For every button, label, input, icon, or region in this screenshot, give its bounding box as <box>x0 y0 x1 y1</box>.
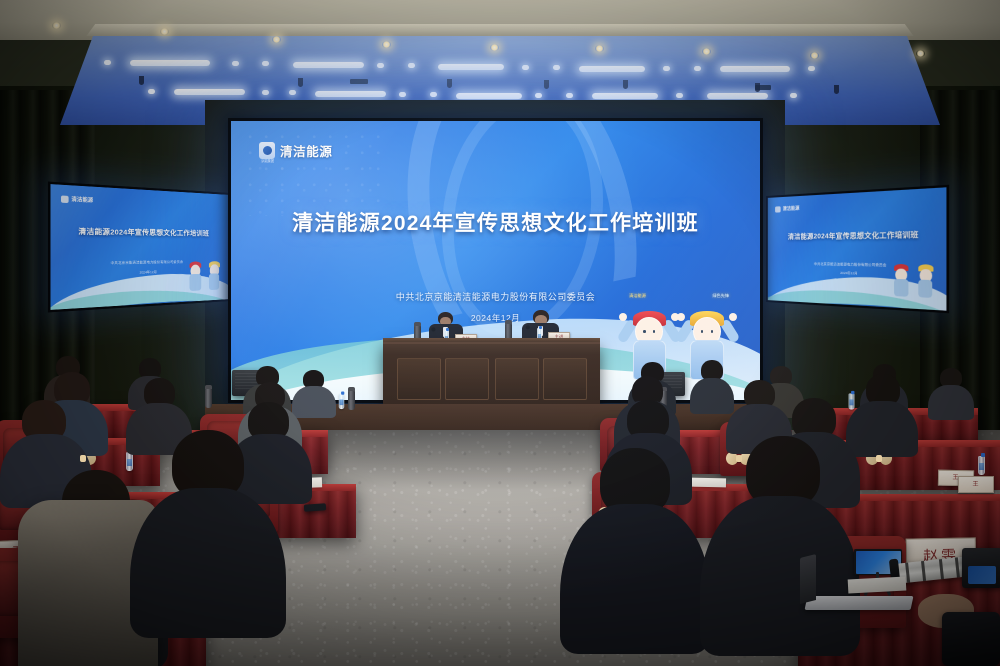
slide-logo-brand: 清洁能源 <box>280 141 332 160</box>
downlight-3 <box>272 36 281 43</box>
side-screen-left: 清洁能源 清洁能源2024年宣传思想文化工作培训班 中共北京京能清洁能源电力股份… <box>48 182 231 313</box>
thermos-a2 <box>348 390 355 410</box>
side-right-title: 清洁能源2024年宣传思想文化工作培训班 <box>768 228 947 241</box>
audience-person-center-right <box>560 448 710 648</box>
audience-person-front-right <box>700 436 860 650</box>
conference-room-scene: 清洁能源 清洁能源2024年宣传思想文化工作培训班 中共北京京能清洁能源电力股份… <box>0 0 1000 666</box>
head-table <box>383 342 600 410</box>
water-bottle-b1 <box>978 456 985 475</box>
downlight-8 <box>810 52 819 59</box>
side-screen-right: 清洁能源 清洁能源2024年宣传思想文化工作培训班 中共北京京能清洁能源电力股份… <box>766 185 949 314</box>
downlight-7 <box>702 48 711 55</box>
downlight-1 <box>52 22 61 29</box>
mascot-bubble-left: 清洁能源 <box>629 293 646 299</box>
water-bottle-a2 <box>339 394 345 409</box>
slide-logo-group: 京能集团 <box>259 159 276 164</box>
side-left-logo: 清洁能源 <box>61 196 93 205</box>
side-right-logo: 清洁能源 <box>775 206 799 213</box>
downlight-4 <box>382 41 391 48</box>
thermos-a1 <box>205 388 212 408</box>
downlight-6 <box>595 45 604 52</box>
laptop-lid[interactable] <box>800 554 816 604</box>
side-left-mascots <box>187 258 221 291</box>
side-right-mascots <box>891 261 935 298</box>
namecard-row-c-right: 王 <box>958 476 994 493</box>
side-left-title: 清洁能源2024年宣传思想文化工作培训班 <box>51 226 230 239</box>
downlight-9 <box>916 50 925 57</box>
camera-rear-screen <box>968 566 996 584</box>
laptop-base[interactable] <box>805 596 914 610</box>
jingneng-logo-icon <box>61 196 69 204</box>
side-right-brand: 清洁能源 <box>783 206 800 213</box>
downlight-2 <box>160 28 169 35</box>
mascot-bubble-right: 绿色先锋 <box>712 293 729 299</box>
downlight-5 <box>490 44 499 51</box>
slide-title: 清洁能源2024年宣传思想文化工作培训班 <box>231 207 760 237</box>
soffit-edge <box>60 24 940 36</box>
namecard-row-c-right-text: 王 <box>972 482 979 488</box>
photographer-arm <box>942 612 1000 666</box>
jingneng-logo-icon: 京能集团 <box>259 142 275 159</box>
audience-person-a9 <box>928 368 974 418</box>
audience-person-center-left <box>130 430 286 630</box>
side-left-brand: 清洁能源 <box>71 196 93 204</box>
jingneng-logo-icon <box>775 206 781 212</box>
slide-logo: 京能集团 清洁能源 <box>259 141 332 160</box>
